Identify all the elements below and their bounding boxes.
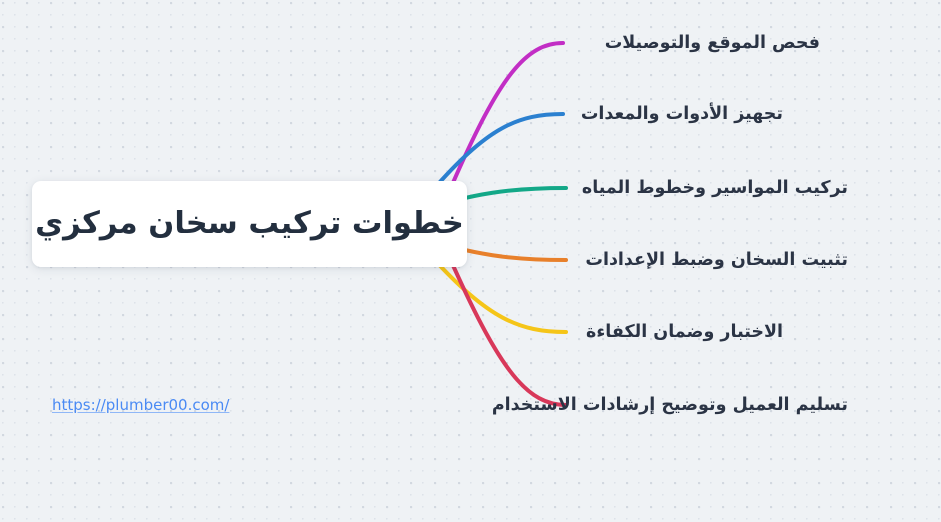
branch-label-6[interactable]: تسليم العميل وتوضيح إرشادات الاستخدام	[492, 395, 848, 417]
branch-connector-1	[453, 43, 563, 182]
source-url-link[interactable]: https://plumber00.com/	[52, 396, 229, 414]
branch-connector-6	[453, 266, 566, 405]
root-node-label: خطوات تركيب سخان مركزي	[35, 206, 464, 243]
branch-label-5[interactable]: الاختبار وضمان الكفاءة	[586, 322, 783, 344]
branch-label-3[interactable]: تركيب المواسير وخطوط المياه	[582, 178, 848, 200]
branch-label-1[interactable]: فحص الموقع والتوصيلات	[605, 33, 820, 55]
root-node[interactable]: خطوات تركيب سخان مركزي	[32, 181, 467, 267]
branch-connector-5	[431, 256, 566, 332]
branch-connector-2	[432, 114, 563, 191]
branch-label-4[interactable]: تثبيت السخان وضبط الإعدادات	[585, 250, 848, 272]
mind-map-canvas: خطوات تركيب سخان مركزي فحص الموقع والتوص…	[0, 0, 941, 522]
branch-label-2[interactable]: تجهيز الأدوات والمعدات	[581, 104, 783, 126]
